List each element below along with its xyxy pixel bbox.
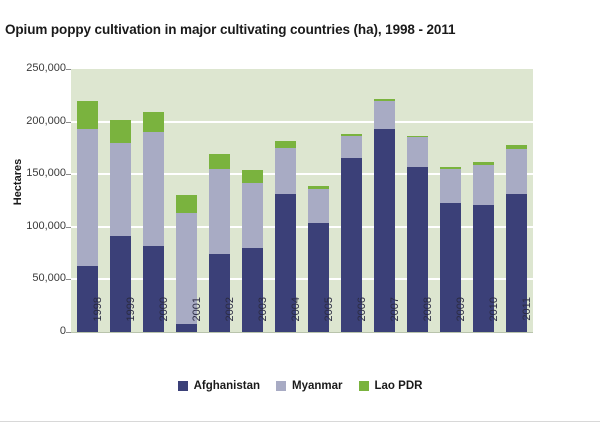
gridline	[71, 278, 533, 280]
x-axis-tick-label: 2010	[489, 297, 500, 337]
legend-item-label: Lao PDR	[375, 380, 423, 392]
legend-item[interactable]: Afghanistan	[178, 380, 260, 392]
bar-segment[interactable]	[374, 101, 395, 129]
y-axis-tick-label: 250,000	[12, 63, 66, 74]
legend-item-label: Myanmar	[292, 380, 343, 392]
bar-segment[interactable]	[473, 165, 494, 205]
y-axis-tick-mark	[66, 279, 71, 280]
bar-segment[interactable]	[275, 141, 296, 148]
x-axis-tick-label: 2008	[423, 297, 434, 337]
x-axis-tick-label: 2009	[456, 297, 467, 337]
gridline	[71, 226, 533, 228]
y-axis-tick-label: 0	[12, 326, 66, 337]
y-axis-tick-label: 150,000	[12, 168, 66, 179]
bar-segment[interactable]	[176, 195, 197, 213]
y-axis-tick-mark	[66, 69, 71, 70]
bar-segment[interactable]	[110, 143, 131, 237]
y-axis-tick-labels: 250,000200,000150,000100,00050,0000	[0, 48, 66, 348]
bar-segment[interactable]	[407, 137, 428, 166]
y-axis-tick-mark	[66, 174, 71, 175]
y-axis-tick-mark	[66, 227, 71, 228]
bar-segment[interactable]	[308, 189, 329, 223]
bar-segment[interactable]	[209, 154, 230, 169]
bar-chart: Hectares 250,000200,000150,000100,00050,…	[0, 48, 600, 402]
legend-swatch-icon	[359, 381, 369, 391]
x-axis-tick-label: 2003	[258, 297, 269, 337]
bar-segment[interactable]	[506, 149, 527, 194]
page-title: : Opium poppy cultivation in major culti…	[0, 17, 600, 41]
plot-area	[71, 69, 533, 332]
x-axis-tick-label: 2007	[390, 297, 401, 337]
bar-segment[interactable]	[242, 183, 263, 248]
y-axis-tick-mark	[66, 332, 71, 333]
bar-segment[interactable]	[242, 170, 263, 183]
legend-swatch-icon	[276, 381, 286, 391]
bar-segment[interactable]	[440, 169, 461, 203]
x-axis-tick-label: 2000	[159, 297, 170, 337]
bar-segment[interactable]	[341, 136, 362, 158]
gridline	[71, 121, 533, 123]
legend-item[interactable]: Myanmar	[276, 380, 343, 392]
y-axis-tick-label: 200,000	[12, 116, 66, 127]
y-axis-tick-mark	[66, 122, 71, 123]
legend-item[interactable]: Lao PDR	[359, 380, 423, 392]
bar-segment[interactable]	[77, 101, 98, 129]
page-title-text: Opium poppy cultivation in major cultiva…	[5, 22, 455, 37]
y-axis-tick-label: 50,000	[12, 273, 66, 284]
x-axis-tick-label: 2002	[225, 297, 236, 337]
legend-item-label: Afghanistan	[194, 380, 260, 392]
bar-segment[interactable]	[143, 112, 164, 132]
legend-swatch-icon	[178, 381, 188, 391]
x-axis-tick-label: 2011	[522, 297, 533, 337]
x-axis-tick-label: 1999	[126, 297, 137, 337]
bar-segment[interactable]	[143, 132, 164, 246]
bar-segment[interactable]	[209, 169, 230, 254]
bar-segment[interactable]	[275, 148, 296, 194]
x-axis-tick-label: 2005	[324, 297, 335, 337]
title-prefix-marker: :	[0, 22, 1, 37]
x-axis-tick-label: 1998	[93, 297, 104, 337]
x-axis-tick-label: 2004	[291, 297, 302, 337]
bar-segment[interactable]	[110, 120, 131, 143]
chart-legend: AfghanistanMyanmarLao PDR	[0, 380, 600, 392]
y-axis-tick-label: 100,000	[12, 221, 66, 232]
gridline	[71, 173, 533, 175]
x-axis-tick-label: 2006	[357, 297, 368, 337]
x-axis-tick-label: 2001	[192, 297, 203, 337]
bar-segment[interactable]	[77, 129, 98, 266]
